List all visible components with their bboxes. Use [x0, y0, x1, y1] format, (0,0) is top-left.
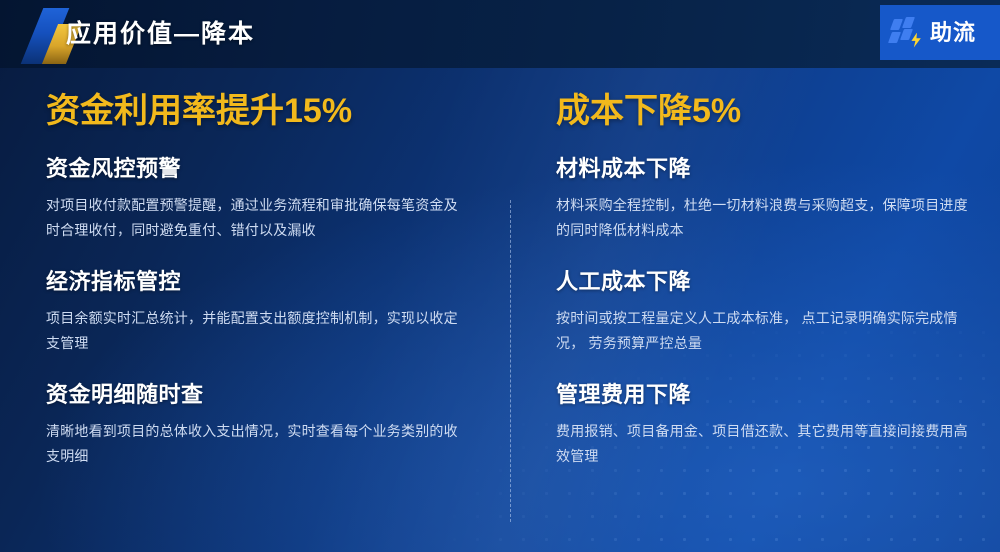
brand-block-1	[890, 19, 903, 30]
feature-description: 项目余额实时汇总统计，并能配置支出额度控制机制，实现以收定支管理	[46, 306, 461, 356]
brand-block-4	[900, 29, 913, 40]
feature-title: 人工成本下降	[556, 267, 1000, 297]
brand-name: 助流	[930, 16, 976, 50]
brand-badge: 助流	[880, 5, 1000, 60]
feature-block: 资金明细随时查 清晰地看到项目的总体收入支出情况，实时查看每个业务类别的收支明细	[46, 380, 501, 469]
feature-title: 经济指标管控	[46, 267, 501, 297]
brand-block-2	[902, 17, 915, 28]
feature-description: 材料采购全程控制，杜绝一切材料浪费与采购超支，保障项目进度的同时降低材料成本	[556, 193, 971, 243]
feature-title: 管理费用下降	[556, 380, 1000, 410]
feature-block: 资金风控预警 对项目收付款配置预警提醒，通过业务流程和审批确保每笔资金及时合理收…	[46, 154, 501, 243]
feature-description: 对项目收付款配置预警提醒，通过业务流程和审批确保每笔资金及时合理收付，同时避免重…	[46, 193, 461, 243]
feature-title: 资金明细随时查	[46, 380, 501, 410]
feature-description: 清晰地看到项目的总体收入支出情况，实时查看每个业务类别的收支明细	[46, 419, 461, 469]
feature-description: 按时间或按工程量定义人工成本标准， 点工记录明确实际完成情况， 劳务预算严控总量	[556, 306, 971, 356]
column-left-title: 资金利用率提升15%	[46, 90, 501, 132]
header-bar: 应用价值—降本	[0, 0, 1000, 68]
column-divider	[510, 200, 511, 522]
feature-block: 材料成本下降 材料采购全程控制，杜绝一切材料浪费与采购超支，保障项目进度的同时降…	[556, 154, 1000, 243]
content-columns: 资金利用率提升15% 资金风控预警 对项目收付款配置预警提醒，通过业务流程和审批…	[0, 68, 1000, 552]
brand-block-3	[888, 32, 901, 43]
feature-block: 经济指标管控 项目余额实时汇总统计，并能配置支出额度控制机制，实现以收定支管理	[46, 267, 501, 356]
feature-description: 费用报销、项目备用金、项目借还款、其它费用等直接间接费用高效管理	[556, 419, 971, 469]
lightning-blocks-icon	[890, 16, 924, 50]
column-left: 资金利用率提升15% 资金风控预警 对项目收付款配置预警提醒，通过业务流程和审批…	[46, 68, 501, 493]
feature-block: 管理费用下降 费用报销、项目备用金、项目借还款、其它费用等直接间接费用高效管理	[556, 380, 1000, 469]
feature-title: 材料成本下降	[556, 154, 1000, 184]
feature-block: 人工成本下降 按时间或按工程量定义人工成本标准， 点工记录明确实际完成情况， 劳…	[556, 267, 1000, 356]
column-right-title: 成本下降5%	[556, 90, 1000, 132]
slide-canvas: 应用价值—降本 助流 资金利用率提升15% 资金风控预警 对项目收付款配置预警提…	[0, 0, 1000, 552]
column-right: 成本下降5% 材料成本下降 材料采购全程控制，杜绝一切材料浪费与采购超支，保障项…	[556, 68, 1000, 493]
page-title: 应用价值—降本	[66, 16, 255, 52]
lightning-bolt-icon	[910, 33, 922, 48]
feature-title: 资金风控预警	[46, 154, 501, 184]
